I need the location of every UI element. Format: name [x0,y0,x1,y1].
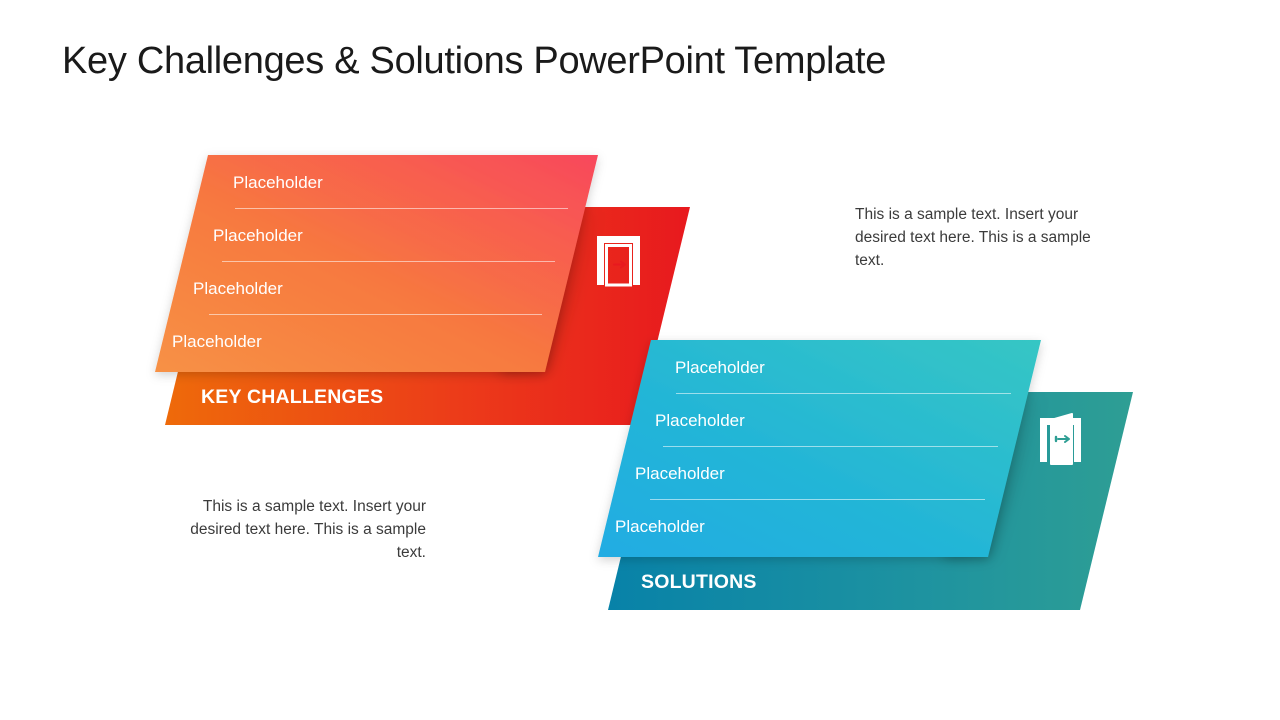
challenges-band-label[interactable]: KEY CHALLENGES [201,386,383,409]
slide-canvas: Key Challenges & Solutions PowerPoint Te… [0,0,1280,720]
solutions-row-2[interactable]: Placeholder [655,411,745,431]
door-open-icon [1040,414,1081,464]
challenges-row-4[interactable]: Placeholder [172,332,262,352]
challenges-row-1[interactable]: Placeholder [233,173,323,193]
solutions-row-1[interactable]: Placeholder [675,358,765,378]
solutions-description[interactable]: This is a sample text. Insert your desir… [178,495,426,564]
diagram-graphics [0,0,1280,720]
challenges-row-2[interactable]: Placeholder [213,226,303,246]
solutions-row-3[interactable]: Placeholder [635,464,725,484]
solutions-band-label[interactable]: SOLUTIONS [641,571,757,594]
challenges-description[interactable]: This is a sample text. Insert your desir… [855,203,1107,272]
challenges-row-3[interactable]: Placeholder [193,279,283,299]
solutions-row-4[interactable]: Placeholder [615,517,705,537]
